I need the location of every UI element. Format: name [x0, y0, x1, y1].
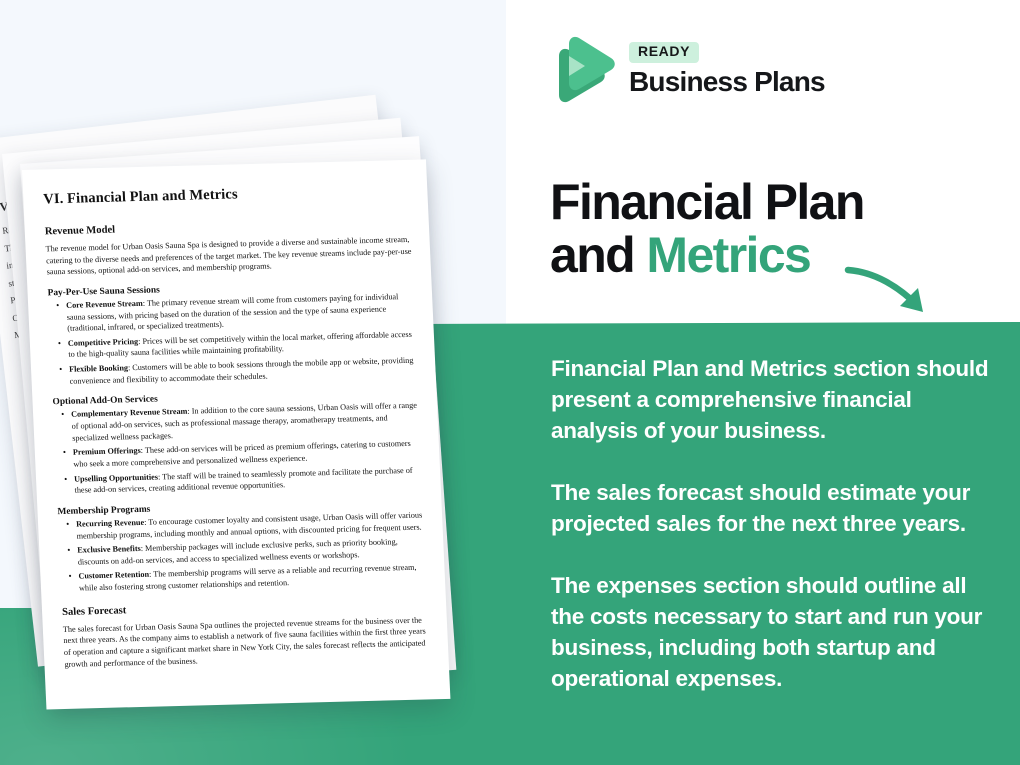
bullet-item: Complementary Revenue Stream: In additio… — [71, 400, 425, 444]
bullet-item: Upselling Opportunities: The staff will … — [74, 464, 427, 496]
document-title: VI. Financial Plan and Metrics — [43, 182, 414, 209]
bullet-term: Core Revenue Stream — [66, 299, 143, 310]
bullet-term: Flexible Booking — [69, 363, 128, 374]
bullet-item: Flexible Booking: Customers will be able… — [69, 355, 422, 387]
bullet-text: : In addition to the core sauna sessions… — [71, 401, 417, 442]
document-page-content: VI. Financial Plan and Metrics Revenue M… — [43, 182, 435, 679]
forecast-paragraph: The sales forecast for Urban Oasis Sauna… — [63, 614, 435, 670]
copy-paragraph-3: The expenses section should outline all … — [551, 570, 999, 694]
bullet-term: Competitive Pricing — [68, 337, 139, 348]
brand-name: Business Plans — [629, 67, 825, 98]
play-triangle-logo-icon — [549, 34, 615, 106]
copy-paragraph-1: Financial Plan and Metrics section shoul… — [551, 353, 999, 446]
document-sheet-front: VI. Financial Plan and Metrics Revenue M… — [22, 159, 450, 709]
slide-canvas: V Re Th inc stre Pay Op M VI. Financial … — [0, 0, 1020, 765]
group-bullets-0: Core Revenue Stream: The primary revenue… — [48, 291, 422, 388]
bullet-term: Exclusive Benefits — [77, 544, 141, 555]
headline-line-2-plain: and — [550, 227, 646, 283]
bullet-term: Upselling Opportunities — [74, 472, 158, 483]
bullet-term: Recurring Revenue — [76, 518, 144, 529]
brand-text-column: READY Business Plans — [629, 42, 825, 97]
document-stack: V Re Th inc stre Pay Op M VI. Financial … — [0, 120, 520, 720]
bullet-term: Customer Retention — [78, 570, 149, 581]
group-bullets-1: Complementary Revenue Stream: In additio… — [53, 400, 427, 497]
bullet-term: Premium Offerings — [73, 446, 141, 457]
bullet-item: Customer Retention: The membership progr… — [78, 562, 431, 594]
group-bullets-2: Recurring Revenue: To encourage customer… — [58, 509, 431, 594]
curved-arrow-down-right-icon — [844, 264, 944, 322]
headline-line-2-accent: Metrics — [646, 227, 810, 283]
copy-paragraph-2: The sales forecast should estimate your … — [551, 477, 999, 539]
bullet-term: Complementary Revenue Stream — [71, 407, 188, 419]
headline-line-1: Financial Plan — [550, 174, 864, 230]
bullet-item: Core Revenue Stream: The primary revenue… — [66, 291, 420, 335]
description-copy: Financial Plan and Metrics section shoul… — [551, 353, 999, 694]
brand-logo[interactable]: READY Business Plans — [549, 34, 825, 106]
ready-badge: READY — [629, 42, 699, 62]
document-intro-paragraph: The revenue model for Urban Oasis Sauna … — [45, 234, 417, 279]
bullet-text: : The primary revenue stream will come f… — [67, 292, 399, 333]
